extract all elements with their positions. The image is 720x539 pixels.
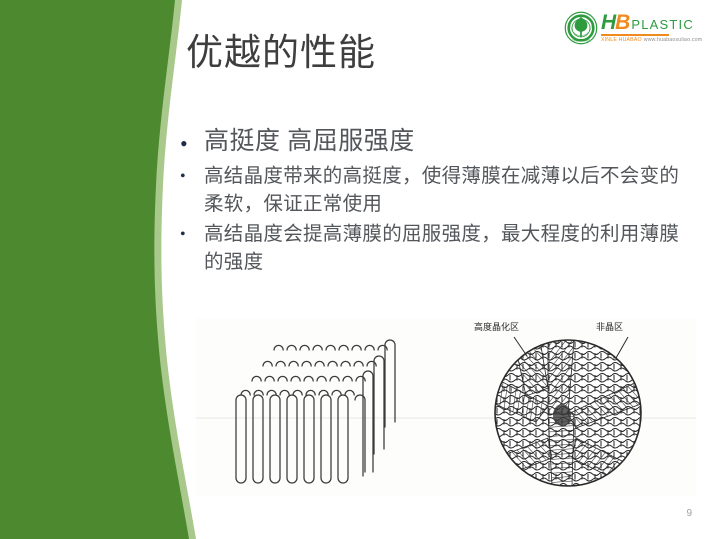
folded-chain-diagram	[236, 340, 395, 483]
green-curve-outline	[0, 0, 196, 539]
bullet-text-3: 高结晶度会提高薄膜的屈服强度，最大程度的利用薄膜的强度	[204, 221, 696, 278]
bullet-item-3: • 高结晶度会提高薄膜的屈服强度，最大程度的利用薄膜的强度	[180, 221, 696, 278]
logo-letter-b: B	[615, 12, 629, 33]
bullet-marker-icon: •	[180, 221, 204, 243]
figure-label-amorphous: 非晶区	[596, 320, 623, 333]
logo-website: www.huabaosuliao.com	[644, 37, 703, 43]
bullet-item-1: • 高挺度 高屈服强度	[180, 126, 696, 159]
slide-title: 优越的性能	[186, 34, 606, 75]
green-curve-fill	[0, 0, 189, 539]
polymer-crystallinity-figure: 高度晶化区 非晶区	[196, 318, 696, 496]
bullet-text-1: 高挺度 高屈服强度	[204, 126, 696, 159]
bullet-marker-icon: •	[180, 126, 204, 155]
logo-company-name: XINLE HUABAO	[601, 37, 642, 43]
logo-letter-h: H	[601, 12, 615, 33]
figure-drawing	[196, 318, 696, 496]
figure-label-crystalline: 高度晶化区	[474, 320, 519, 333]
bullet-item-2: • 高结晶度带来的高挺度，使得薄膜在减薄以后不会变的柔软，保证正常使用	[180, 163, 696, 220]
logo-wordmark: HB PLASTIC XINLE HUABAOwww.huabaosuliao.…	[601, 10, 702, 43]
logo-subtitle: XINLE HUABAOwww.huabaosuliao.com	[601, 37, 702, 43]
bullet-marker-icon: •	[180, 163, 204, 185]
slide: GREEN TREE HB PLASTIC XINLE HUABAOwww.hu…	[0, 0, 720, 539]
slide-body: • 高挺度 高屈服强度 • 高结晶度带来的高挺度，使得薄膜在减薄以后不会变的柔软…	[180, 126, 696, 280]
logo-plastic-text: PLASTIC	[631, 18, 694, 31]
logo-brand-row: HB PLASTIC	[601, 12, 702, 33]
page-number: 9	[686, 508, 692, 519]
spherulite-diagram	[495, 337, 641, 486]
logo-underline-rule	[601, 34, 669, 36]
bullet-text-2: 高结晶度带来的高挺度，使得薄膜在减薄以后不会变的柔软，保证正常使用	[204, 163, 696, 220]
